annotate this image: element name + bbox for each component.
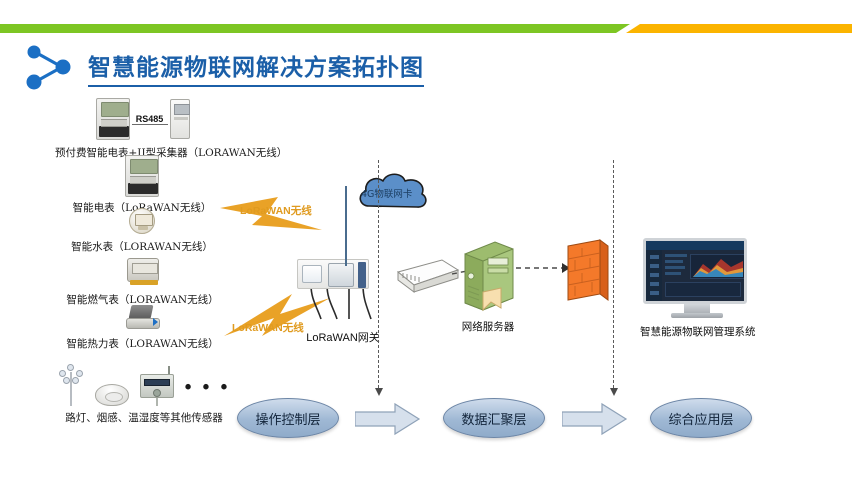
lorawan-gateway[interactable]: LoRaWAN网关 (297, 259, 389, 345)
divider-line-operation-control (378, 160, 379, 388)
server-label: 网络服务器 (457, 319, 519, 334)
top-bar-green-segment (0, 24, 630, 33)
data-collector-icon (170, 99, 190, 139)
device-prepaid-meter-collector[interactable]: RS485 预付费智能电表+II型采集器（LORAWAN无线） (55, 96, 230, 160)
cloud-label: 4G物联网卡 (361, 186, 412, 200)
server-tower-icon (457, 240, 519, 312)
network-node-icon (22, 44, 80, 90)
layer-integrated-application[interactable]: 综合应用层 (650, 398, 752, 438)
gas-meter-icon (127, 258, 159, 282)
heat-meter-icon (126, 305, 160, 329)
layer-data-aggregation[interactable]: 数据汇聚层 (443, 398, 545, 438)
layer-operation-control[interactable]: 操作控制层 (237, 398, 339, 438)
gateway-label: LoRaWAN网关 (297, 329, 389, 345)
page-title-group: 智慧能源物联网解决方案拓扑图 (22, 44, 424, 90)
device-label: 智能水表（LORAWAN无线） (62, 239, 222, 254)
ellipsis-more-sensors: • • • (185, 378, 231, 397)
dashboard-stats-panel (665, 253, 689, 277)
layer-label: 数据汇聚层 (461, 409, 526, 428)
electric-meter-icon (125, 155, 159, 197)
device-smart-heat-meter[interactable]: 智能热力表（LORAWAN无线） (60, 305, 225, 351)
divider-line-integrated-application (613, 160, 614, 388)
rs485-link-line (132, 124, 168, 125)
top-bar-orange-segment (626, 24, 852, 33)
smoke-detector-icon (95, 384, 129, 406)
gateway-device-icon (297, 259, 369, 289)
dashboard-chart-icon (691, 256, 745, 278)
device-smart-gas-meter[interactable]: 智能燃气表（LORAWAN无线） (60, 258, 225, 307)
cloud-4g-iot[interactable]: 4G物联网卡 (356, 170, 430, 219)
monitor-screen (643, 238, 747, 304)
water-meter-icon (129, 208, 155, 234)
slide-canvas: 智慧能源物联网解决方案拓扑图 RS485 预付费智能电表+II型采集器（LORA… (0, 0, 852, 480)
lorawan-link-upper: LoRaWAN无线 (218, 196, 328, 238)
layer-label: 综合应用层 (668, 409, 733, 428)
network-server[interactable]: 网络服务器 (457, 240, 519, 334)
gateway-cables (297, 285, 389, 331)
device-smart-water-meter[interactable]: 智能水表（LORAWAN无线） (62, 208, 222, 254)
network-switch[interactable] (396, 258, 460, 301)
lorawan-link-label: LoRaWAN无线 (232, 320, 304, 335)
device-smart-electric-meter[interactable]: 智能电表（LoRaWAN无线） (62, 155, 222, 215)
decorative-top-bar (0, 24, 852, 33)
monitor-base (671, 313, 723, 318)
management-system-monitor[interactable]: 智慧能源物联网管理系统 (643, 238, 750, 339)
page-title: 智慧能源物联网解决方案拓扑图 (88, 48, 424, 87)
electric-meter-icon (96, 98, 130, 140)
monitor-label: 智慧能源物联网管理系统 (640, 324, 750, 339)
layer-arrow-2 (562, 402, 628, 436)
layer-label: 操作控制层 (255, 409, 320, 428)
rs485-link-label: RS485 (136, 114, 164, 124)
lorawan-link-label: LoRaWAN无线 (240, 203, 312, 218)
temp-humidity-sensor-icon (140, 370, 174, 406)
firewall[interactable] (562, 238, 610, 309)
device-label: 智能热力表（LORAWAN无线） (60, 336, 225, 351)
streetlight-icon (58, 364, 84, 406)
monitor-stand (684, 304, 710, 313)
network-switch-icon (396, 258, 460, 296)
device-other-sensors[interactable]: • • • 路灯、烟感、温湿度等其他传感器 (44, 362, 244, 425)
layer-arrow-1 (355, 402, 421, 436)
device-label: 路灯、烟感、温湿度等其他传感器 (44, 410, 244, 425)
gateway-cloud-uplink (340, 186, 352, 266)
firewall-brick-icon (562, 238, 610, 304)
dashboard-sidebar-icons (648, 253, 661, 303)
